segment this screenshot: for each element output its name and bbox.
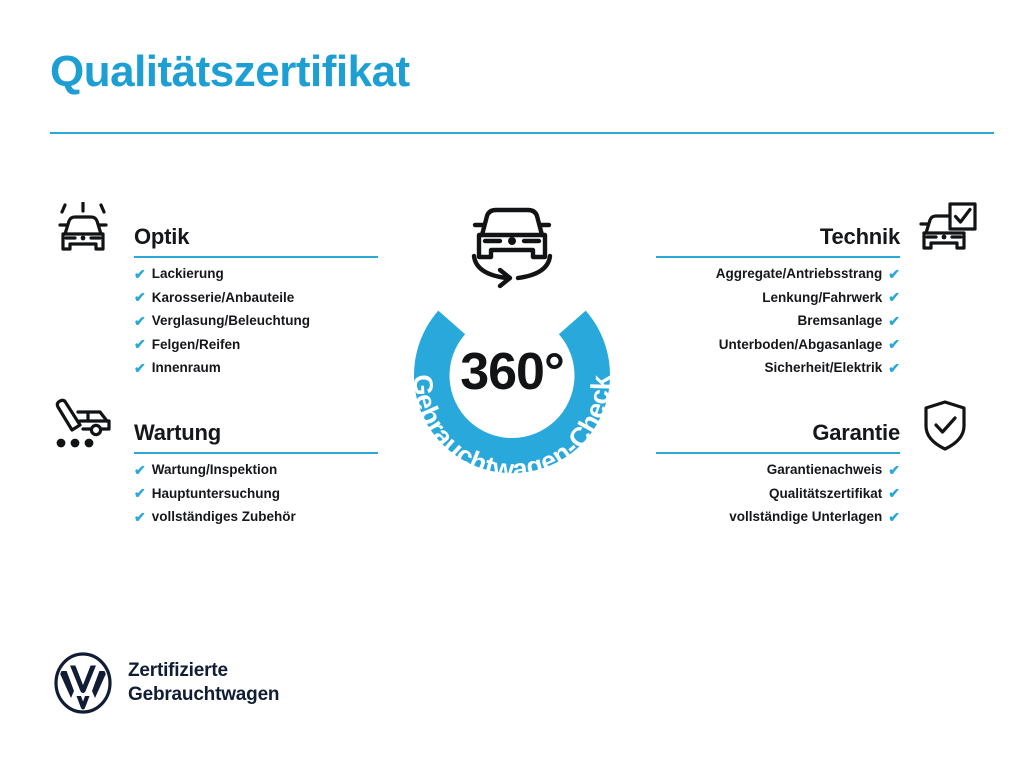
list-item: ✔ Felgen/Reifen: [134, 333, 408, 357]
footer-brand-logo: Zertifizierte Gebrauchtwagen: [52, 652, 279, 714]
list-item: Unterboden/Abgasanlage ✔: [618, 333, 900, 357]
list-item-label: Lenkung/Fahrwerk: [762, 286, 882, 310]
list-item: Garantienachweis ✔: [618, 458, 900, 482]
list-item: ✔ Wartung/Inspektion: [134, 458, 408, 482]
brand-text: Zertifizierte Gebrauchtwagen: [128, 659, 279, 707]
car-front-shine-icon: [50, 202, 116, 258]
check-icon: ✔: [888, 361, 900, 375]
list-item-label: Qualitätszertifikat: [769, 482, 882, 506]
check-icon: ✔: [888, 290, 900, 304]
check-icon: ✔: [888, 510, 900, 524]
section-underline: [656, 452, 900, 454]
list-item-label: vollständige Unterlagen: [729, 505, 882, 529]
check-icon: ✔: [134, 510, 146, 524]
list-item-label: Karosserie/Anbauteile: [152, 286, 295, 310]
section-garantie: Garantie Garantienachweis ✔ Qualitätszer…: [618, 396, 978, 529]
check-icon: ✔: [134, 314, 146, 328]
list-item-label: Lackierung: [152, 262, 224, 286]
brand-line-1: Zertifizierte: [128, 659, 279, 683]
car-rotate-icon: [460, 200, 564, 292]
section-optik: Optik ✔ Lackierung ✔ Karosserie/Anbautei…: [48, 200, 408, 380]
list-item-label: Unterboden/Abgasanlage: [719, 333, 883, 357]
checklist-garantie: Garantienachweis ✔ Qualitätszertifikat ✔…: [618, 458, 978, 529]
check-icon: ✔: [134, 290, 146, 304]
certificate-page: Qualitätszertifikat: [0, 0, 1024, 768]
list-item: Bremsanlage ✔: [618, 309, 900, 333]
section-header: Technik: [618, 200, 978, 262]
list-item: Qualitätszertifikat ✔: [618, 482, 900, 506]
list-item-label: Bremsanlage: [797, 309, 882, 333]
checklist-optik: ✔ Lackierung ✔ Karosserie/Anbauteile ✔ V…: [48, 262, 408, 380]
wrench-car-icon: [50, 398, 116, 454]
shield-check-icon: [912, 398, 978, 454]
list-item-label: Innenraum: [152, 356, 221, 380]
list-item: Sicherheit/Elektrik ✔: [618, 356, 900, 380]
list-item: ✔ Lackierung: [134, 262, 408, 286]
section-header: Wartung: [48, 396, 408, 458]
check-icon: ✔: [888, 337, 900, 351]
list-item: ✔ Karosserie/Anbauteile: [134, 286, 408, 310]
list-item-label: Sicherheit/Elektrik: [764, 356, 882, 380]
vw-logo-icon: [52, 652, 114, 714]
list-item-label: Felgen/Reifen: [152, 333, 241, 357]
check-icon: ✔: [134, 361, 146, 375]
check-icon: ✔: [134, 486, 146, 500]
list-item: ✔ vollständiges Zubehör: [134, 505, 408, 529]
section-underline: [134, 452, 378, 454]
checklist-wartung: ✔ Wartung/Inspektion ✔ Hauptuntersuchung…: [48, 458, 408, 529]
checklist-technik: Aggregate/Antriebsstrang ✔ Lenkung/Fahrw…: [618, 262, 978, 380]
list-item: ✔ Verglasung/Beleuchtung: [134, 309, 408, 333]
section-underline: [134, 256, 378, 258]
list-item: vollständige Unterlagen ✔: [618, 505, 900, 529]
check-icon: ✔: [888, 486, 900, 500]
list-item-label: Aggregate/Antriebsstrang: [716, 262, 883, 286]
list-item: Aggregate/Antriebsstrang ✔: [618, 262, 900, 286]
badge-360-gebrauchtwagen-check: Gebrauchtwagen-Check 360°: [378, 260, 646, 500]
list-item-label: Garantienachweis: [767, 458, 883, 482]
check-icon: ✔: [134, 463, 146, 477]
section-title: Garantie: [812, 420, 900, 446]
brand-line-2: Gebrauchtwagen: [128, 683, 279, 707]
section-technik: Technik Aggregate/Antriebsstrang ✔ Lenku…: [618, 200, 978, 380]
list-item-label: vollständiges Zubehör: [152, 505, 296, 529]
car-checkbox-icon: [912, 202, 978, 258]
section-title: Technik: [820, 224, 900, 250]
section-header: Garantie: [618, 396, 978, 458]
badge-number: 360°: [378, 342, 646, 402]
list-item-label: Verglasung/Beleuchtung: [152, 309, 310, 333]
list-item: Lenkung/Fahrwerk ✔: [618, 286, 900, 310]
section-underline: [656, 256, 900, 258]
list-item-label: Hauptuntersuchung: [152, 482, 280, 506]
check-icon: ✔: [888, 463, 900, 477]
check-icon: ✔: [134, 267, 146, 281]
check-icon: ✔: [888, 267, 900, 281]
page-title: Qualitätszertifikat: [50, 48, 410, 96]
list-item-label: Wartung/Inspektion: [152, 458, 278, 482]
list-item: ✔ Hauptuntersuchung: [134, 482, 408, 506]
section-title: Wartung: [134, 420, 221, 446]
title-divider: [50, 132, 994, 134]
section-header: Optik: [48, 200, 408, 262]
list-item: ✔ Innenraum: [134, 356, 408, 380]
section-wartung: Wartung ✔ Wartung/Inspektion ✔ Hauptunte…: [48, 396, 408, 529]
check-icon: ✔: [888, 314, 900, 328]
section-title: Optik: [134, 224, 189, 250]
check-icon: ✔: [134, 337, 146, 351]
